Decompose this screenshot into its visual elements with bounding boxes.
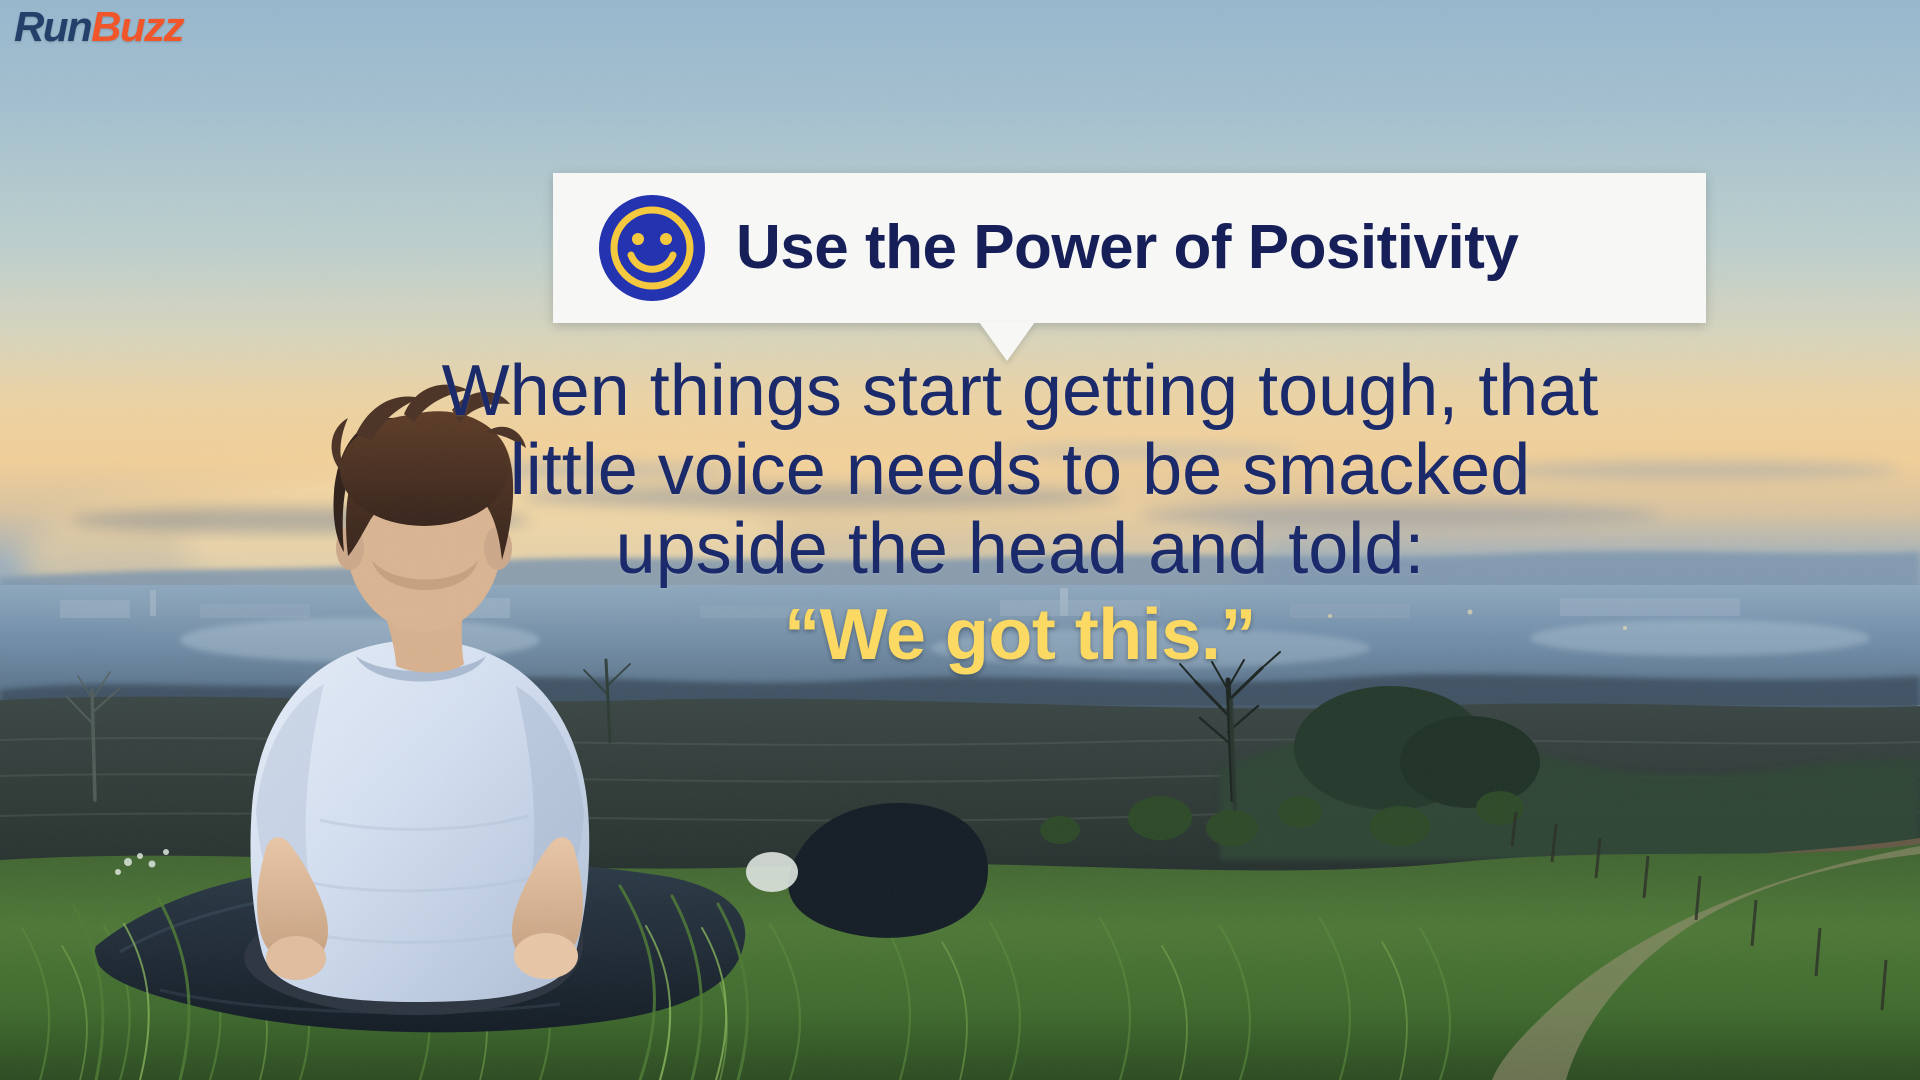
speech-bubble-tail [979,322,1035,361]
background-photo [0,0,1920,1080]
headline-title: Use the Power of Positivity [736,217,1518,279]
poster-canvas: RunBuzz Use the Power of Positivity When… [0,0,1920,1080]
runbuzz-logo[interactable]: RunBuzz [14,6,183,48]
smiley-face-icon [598,194,706,302]
headline-speech-bubble: Use the Power of Positivity [553,173,1706,323]
logo-text-run: Run [14,3,91,50]
logo-text-buzz: Buzz [91,3,183,50]
